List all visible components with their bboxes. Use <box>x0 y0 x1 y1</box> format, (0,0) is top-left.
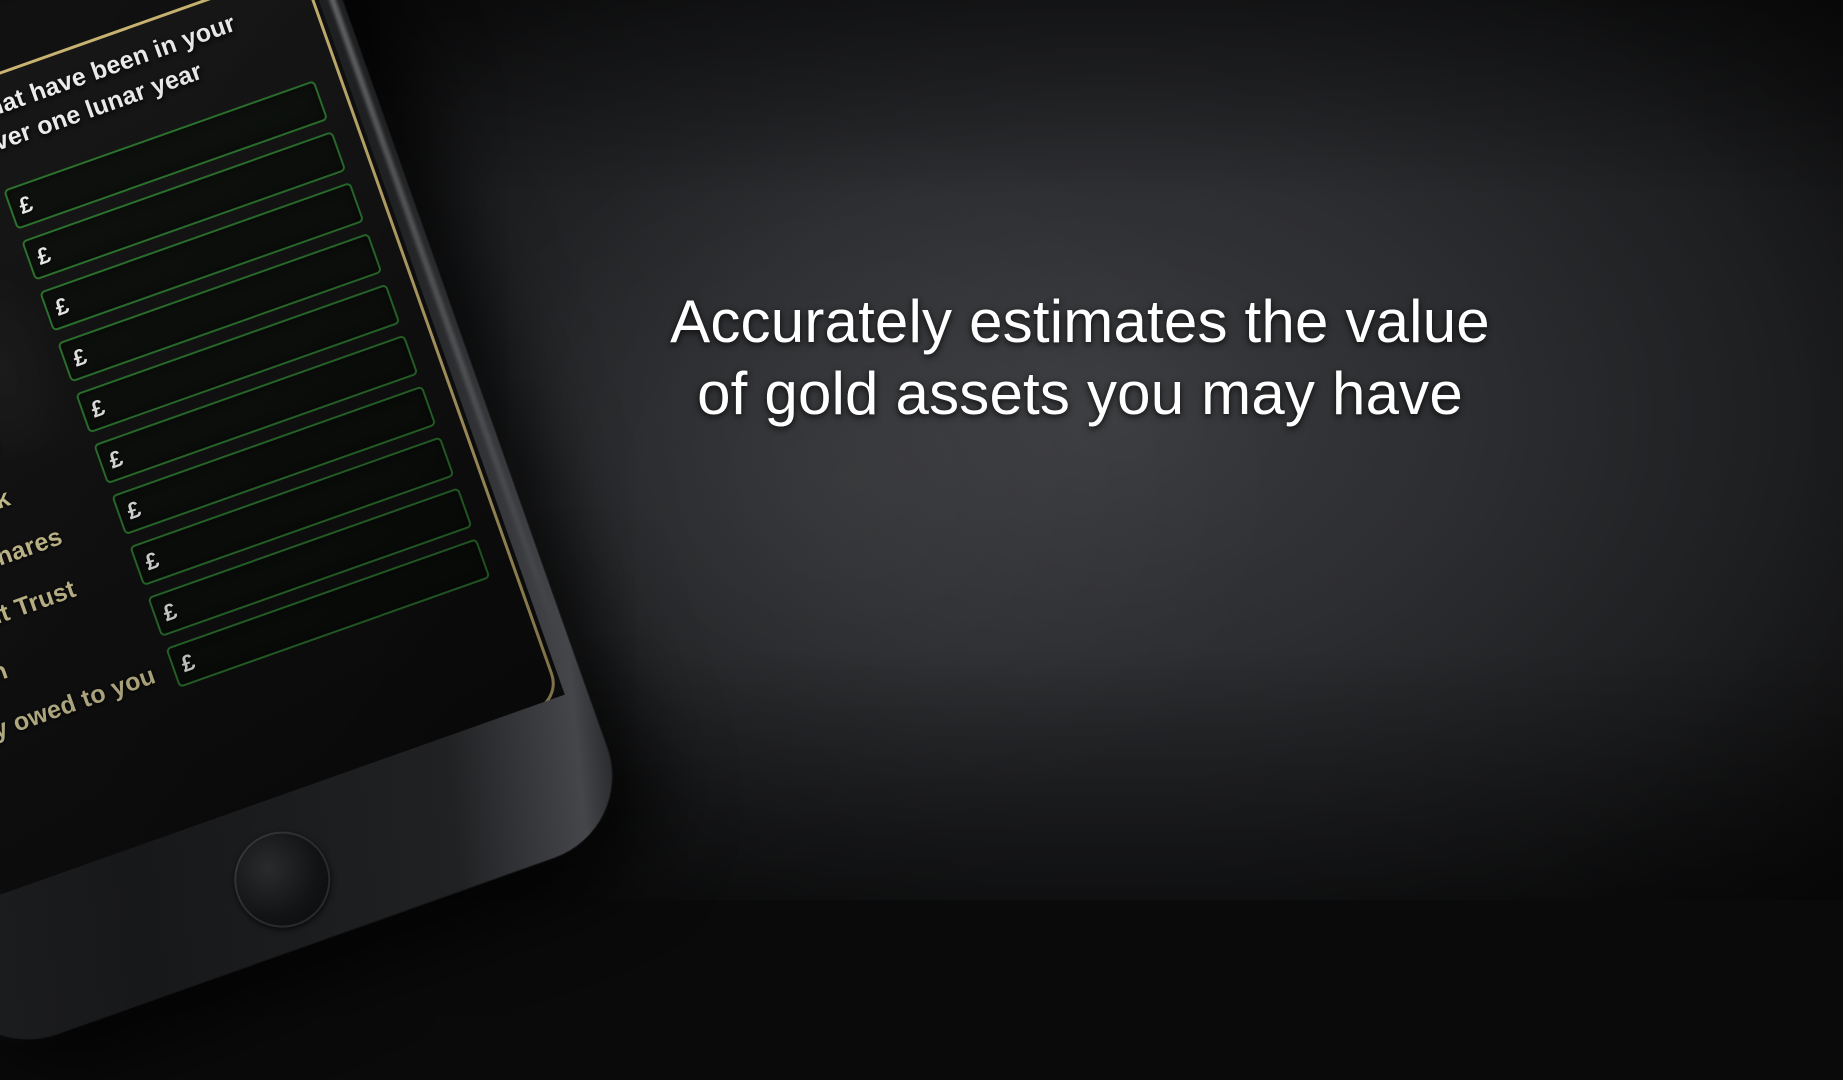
currency-symbol: £ <box>26 241 55 273</box>
currency-symbol: £ <box>170 648 199 680</box>
headline: Accurately estimates the value of gold a… <box>600 286 1560 430</box>
asset-row-value <box>68 303 73 305</box>
asset-row-value <box>158 557 163 559</box>
currency-symbol: £ <box>116 495 145 527</box>
currency-symbol: £ <box>134 546 163 578</box>
asset-row-value <box>32 201 37 203</box>
asset-row-value <box>104 404 109 406</box>
asset-row-value <box>50 252 55 254</box>
currency-symbol: £ <box>8 190 37 222</box>
asset-row-value <box>140 506 145 508</box>
currency-symbol: £ <box>80 393 109 425</box>
currency-symbol: £ <box>98 444 127 476</box>
asset-row-value <box>122 455 127 457</box>
currency-symbol: £ <box>44 291 73 323</box>
headline-line-1: Accurately estimates the value <box>600 286 1560 358</box>
currency-symbol: £ <box>62 342 91 374</box>
headline-line-2: of gold assets you may have <box>600 358 1560 430</box>
asset-row-value <box>176 608 181 610</box>
currency-symbol: £ <box>152 597 181 629</box>
asset-row-value <box>86 353 91 355</box>
asset-row-value <box>194 659 199 661</box>
